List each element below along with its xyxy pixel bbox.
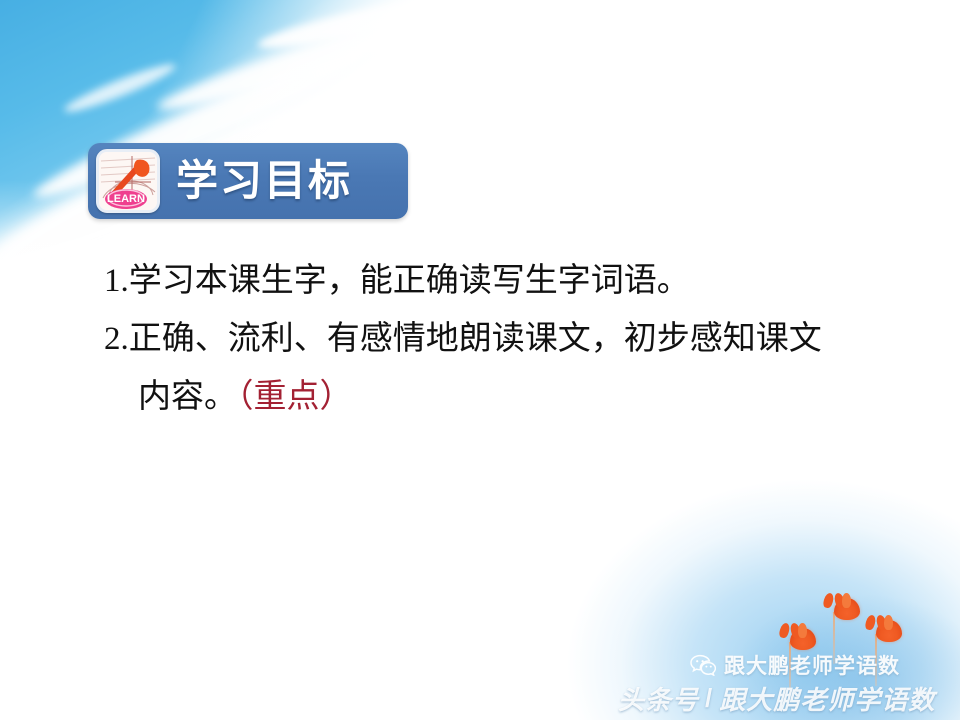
tulip-petal bbox=[778, 622, 791, 639]
objective-text: 正确、流利、有感情地朗读课文，初步感知课文 bbox=[129, 321, 822, 357]
toutiao-platform-label: 头条号 bbox=[618, 680, 699, 717]
tulip-petal bbox=[798, 623, 807, 638]
tulip-petal bbox=[822, 592, 835, 609]
cloud-streak bbox=[61, 58, 178, 118]
objectives-list: 1.学习本课生字，能正确读写生字词语。 2.正确、流利、有感情地朗读课文，初步感… bbox=[104, 252, 904, 426]
toutiao-watermark: 头条号 / 跟大鹏老师学语数 bbox=[618, 680, 935, 717]
wechat-watermark-text: 跟大鹏老师学语数 bbox=[724, 650, 900, 680]
objective-text: 学习本课生字，能正确读写生字词语。 bbox=[129, 263, 690, 299]
objective-emphasis-tag: （重点） bbox=[237, 379, 353, 415]
wechat-watermark: 跟大鹏老师学语数 bbox=[690, 650, 900, 680]
learning-objectives-banner: LEARN 学习目标 bbox=[88, 143, 408, 219]
objective-number: 2. bbox=[104, 321, 129, 357]
sky-gradient bbox=[0, 0, 420, 260]
tulip-petal bbox=[864, 614, 877, 631]
cloud-streak bbox=[153, 0, 477, 122]
objective-item-2: 2.正确、流利、有感情地朗读课文，初步感知课文 bbox=[104, 310, 904, 368]
cloud-streak bbox=[255, 0, 505, 58]
learn-icon-caption: LEARN bbox=[107, 193, 145, 205]
slide-canvas: LEARN 学习目标 1.学习本课生字，能正确读写生字词语。 2.正确、流利、有… bbox=[0, 0, 960, 720]
objective-number: 1. bbox=[104, 263, 129, 299]
watermark-separator: / bbox=[705, 683, 713, 714]
objective-item-1: 1.学习本课生字，能正确读写生字词语。 bbox=[104, 252, 904, 310]
toutiao-account-name: 跟大鹏老师学语数 bbox=[719, 680, 935, 717]
learn-dart-target-icon: LEARN bbox=[96, 149, 160, 213]
objective-continuation-text: 内容。 bbox=[138, 379, 237, 415]
page-title: 学习目标 bbox=[176, 160, 352, 202]
wechat-icon bbox=[690, 654, 716, 676]
tulip-petal bbox=[842, 593, 851, 608]
tulip-petal bbox=[884, 615, 893, 630]
cloud-streak bbox=[298, 53, 502, 143]
objective-item-2-continuation: 内容。（重点） bbox=[104, 368, 904, 426]
